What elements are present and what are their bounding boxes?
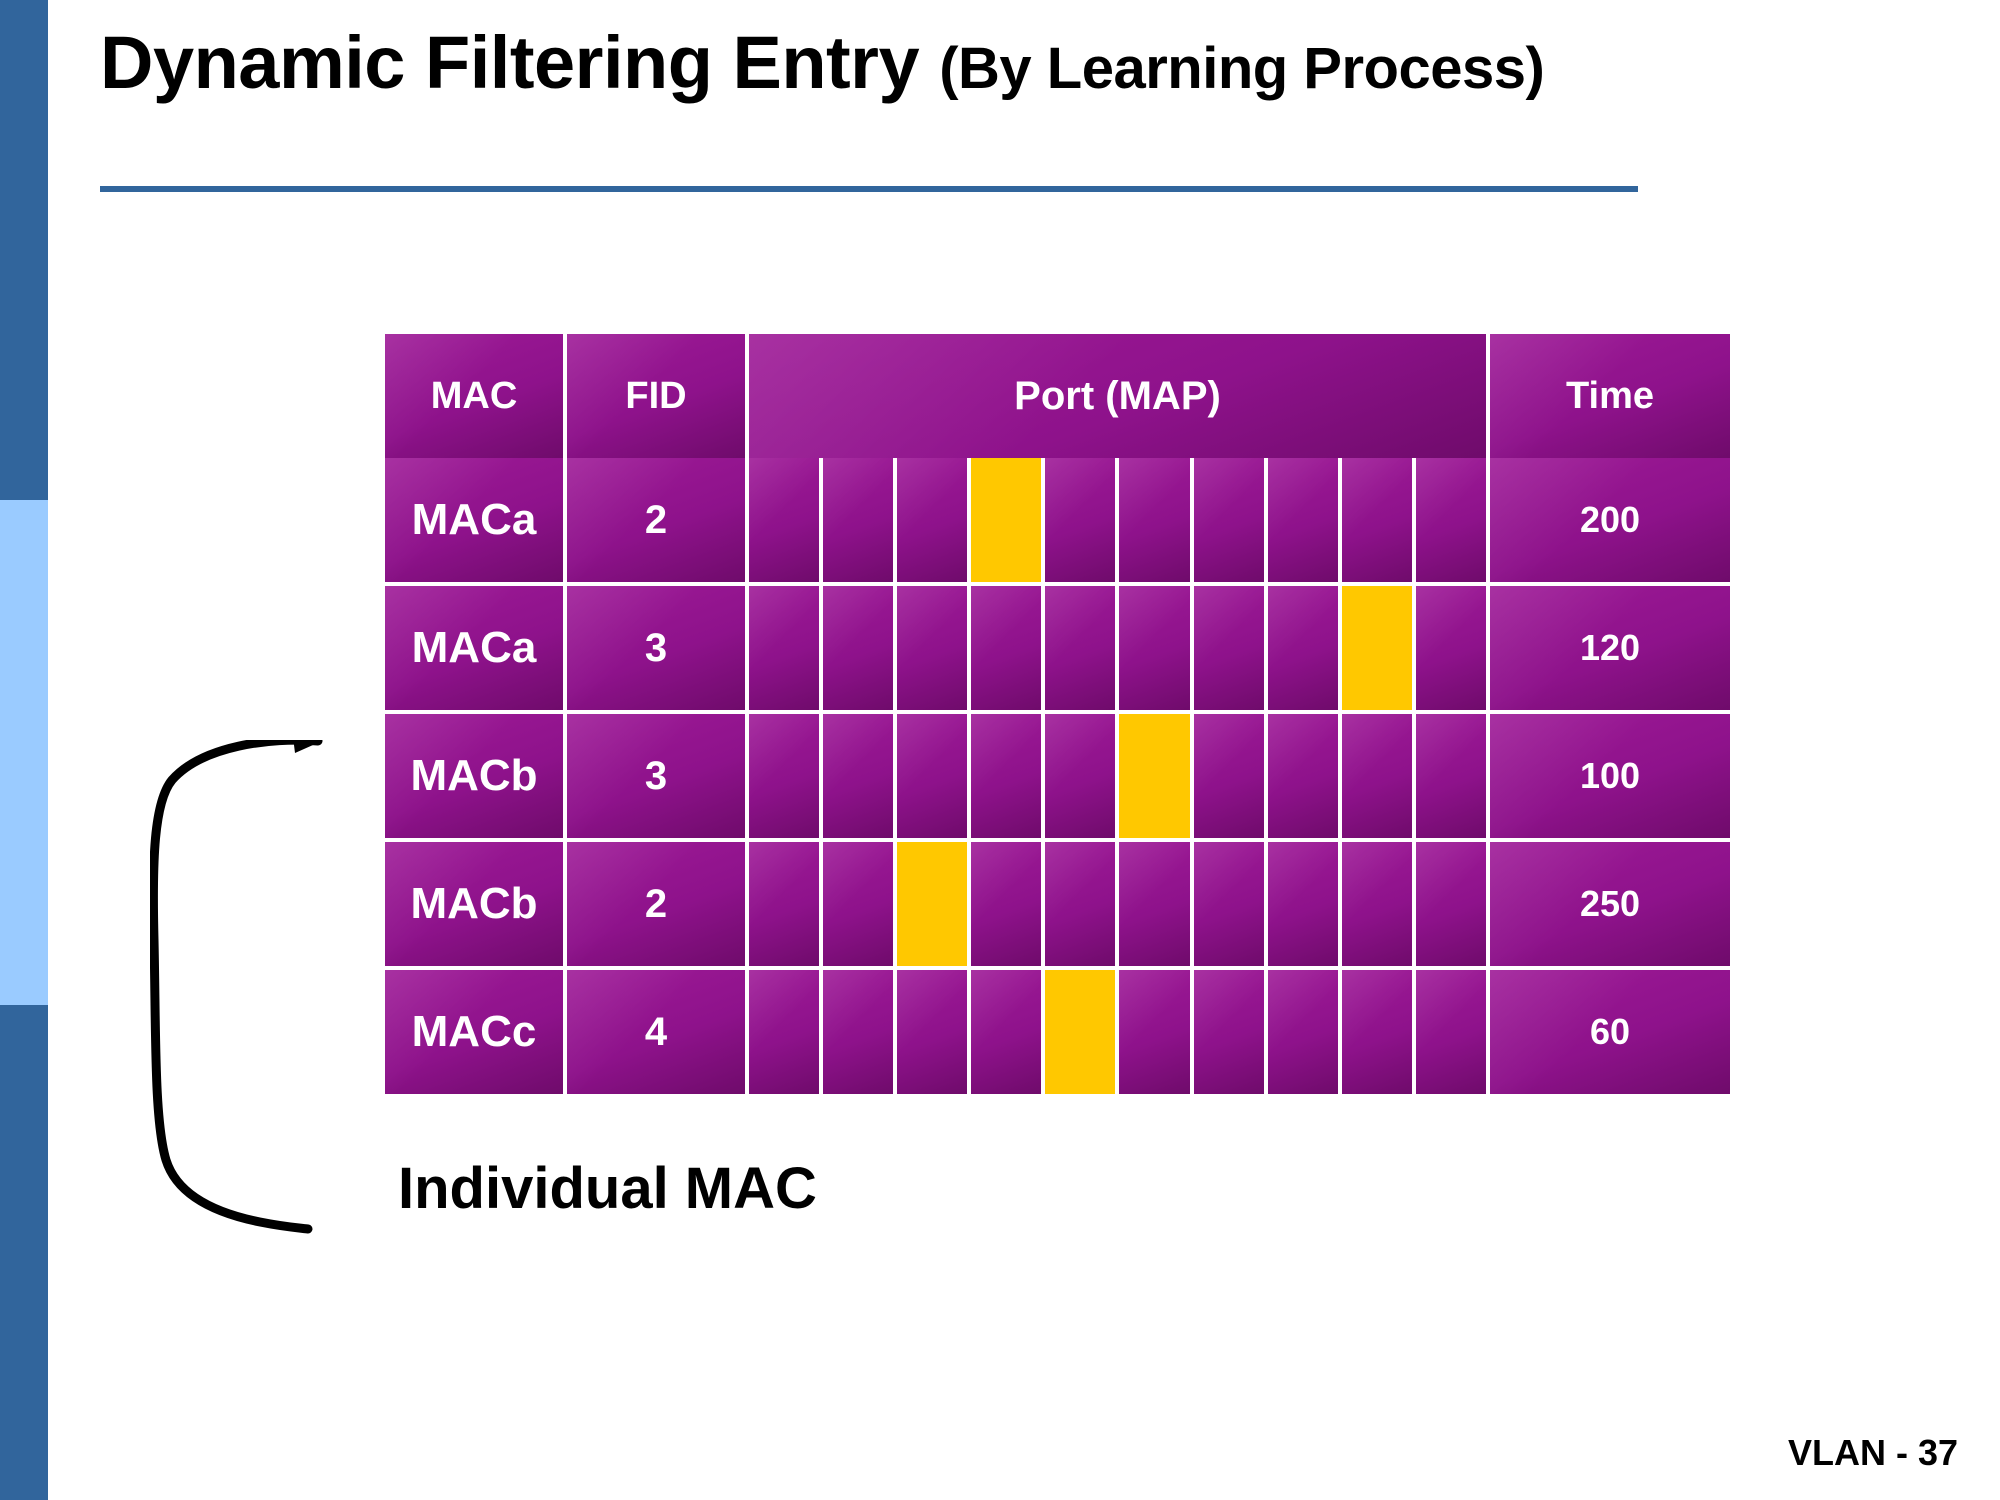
port-cell <box>1194 970 1264 1094</box>
footer-page-label: VLAN - 37 <box>1788 1432 1958 1474</box>
port-cell <box>971 842 1041 966</box>
cell-mac: MACb <box>385 842 563 966</box>
port-cell <box>971 714 1041 838</box>
dynamic-filtering-entry-table: MAC FID Port (MAP) Time MACa2200MACa3120… <box>385 334 1730 1082</box>
port-cell <box>1268 842 1338 966</box>
cell-mac: MACb <box>385 714 563 838</box>
port-cell <box>749 458 819 582</box>
port-cell <box>1194 586 1264 710</box>
port-cell <box>1342 458 1412 582</box>
table-row: MACc460 <box>385 970 1730 1094</box>
annotation-arrowhead <box>292 740 322 753</box>
cell-mac: MACc <box>385 970 563 1094</box>
port-cell-active <box>971 458 1041 582</box>
port-cell <box>1194 714 1264 838</box>
port-cell <box>1268 458 1338 582</box>
port-cell <box>823 970 893 1094</box>
port-cell <box>749 970 819 1094</box>
port-cell <box>1342 970 1412 1094</box>
port-cell <box>1194 458 1264 582</box>
port-cell <box>823 842 893 966</box>
port-cell <box>897 586 967 710</box>
slide-title-main: Dynamic Filtering Entry <box>100 21 939 104</box>
port-cell <box>1416 586 1486 710</box>
cell-time: 100 <box>1490 714 1730 838</box>
port-cell <box>1342 842 1412 966</box>
port-cell <box>823 458 893 582</box>
port-cell <box>823 714 893 838</box>
table-header-row: MAC FID Port (MAP) Time <box>385 334 1730 458</box>
cell-port-map <box>749 714 1486 838</box>
port-cell-active <box>1119 714 1189 838</box>
port-cell <box>1194 842 1264 966</box>
port-cell <box>1045 586 1115 710</box>
cell-time: 120 <box>1490 586 1730 710</box>
port-cell <box>897 714 967 838</box>
port-cell <box>749 842 819 966</box>
port-cell <box>1416 458 1486 582</box>
sidebar-segment-middle <box>0 500 48 1005</box>
port-cell <box>971 970 1041 1094</box>
cell-port-map <box>749 970 1486 1094</box>
annotation-label: Individual MAC <box>398 1155 817 1222</box>
port-cell <box>897 970 967 1094</box>
port-cell <box>1119 842 1189 966</box>
table-row: MACa3120 <box>385 586 1730 710</box>
cell-time: 200 <box>1490 458 1730 582</box>
sidebar-segment-top <box>0 0 48 500</box>
cell-port-map <box>749 842 1486 966</box>
port-cell <box>749 586 819 710</box>
port-cell <box>1045 842 1115 966</box>
table-row: MACa2200 <box>385 458 1730 582</box>
cell-fid: 2 <box>567 458 745 582</box>
header-cell-fid: FID <box>567 334 745 458</box>
header-cell-mac: MAC <box>385 334 563 458</box>
port-cell <box>971 586 1041 710</box>
port-cell <box>1416 970 1486 1094</box>
port-cell <box>749 714 819 838</box>
slide-title: Dynamic Filtering Entry (By Learning Pro… <box>100 22 1960 103</box>
port-cell <box>1416 842 1486 966</box>
port-cell-active <box>1045 970 1115 1094</box>
cell-port-map <box>749 586 1486 710</box>
cell-fid: 2 <box>567 842 745 966</box>
cell-fid: 3 <box>567 714 745 838</box>
annotation-arrow-curve <box>153 740 318 1229</box>
slide-title-sub: (By Learning Process) <box>939 36 1544 101</box>
cell-mac: MACa <box>385 586 563 710</box>
port-cell <box>1416 714 1486 838</box>
port-cell <box>1045 458 1115 582</box>
sidebar-segment-bottom <box>0 1005 48 1500</box>
port-cell <box>1342 714 1412 838</box>
cell-time: 250 <box>1490 842 1730 966</box>
port-cell <box>897 458 967 582</box>
title-divider-rule <box>100 186 1638 192</box>
table-row: MACb3100 <box>385 714 1730 838</box>
port-cell <box>1119 970 1189 1094</box>
port-cell <box>823 586 893 710</box>
cell-fid: 3 <box>567 586 745 710</box>
port-cell <box>1268 714 1338 838</box>
port-cell <box>1119 586 1189 710</box>
port-cell <box>1119 458 1189 582</box>
cell-mac: MACa <box>385 458 563 582</box>
port-cell-active <box>897 842 967 966</box>
header-cell-port: Port (MAP) <box>749 334 1486 458</box>
cell-time: 60 <box>1490 970 1730 1094</box>
table-row: MACb2250 <box>385 842 1730 966</box>
decorative-sidebar <box>0 0 48 1500</box>
port-cell <box>1268 970 1338 1094</box>
port-cell <box>1268 586 1338 710</box>
table-body: MACa2200MACa3120MACb3100MACb2250MACc460 <box>385 458 1730 1094</box>
cell-fid: 4 <box>567 970 745 1094</box>
header-cell-time: Time <box>1490 334 1730 458</box>
port-cell <box>1045 714 1115 838</box>
port-cell-active <box>1342 586 1412 710</box>
cell-port-map <box>749 458 1486 582</box>
